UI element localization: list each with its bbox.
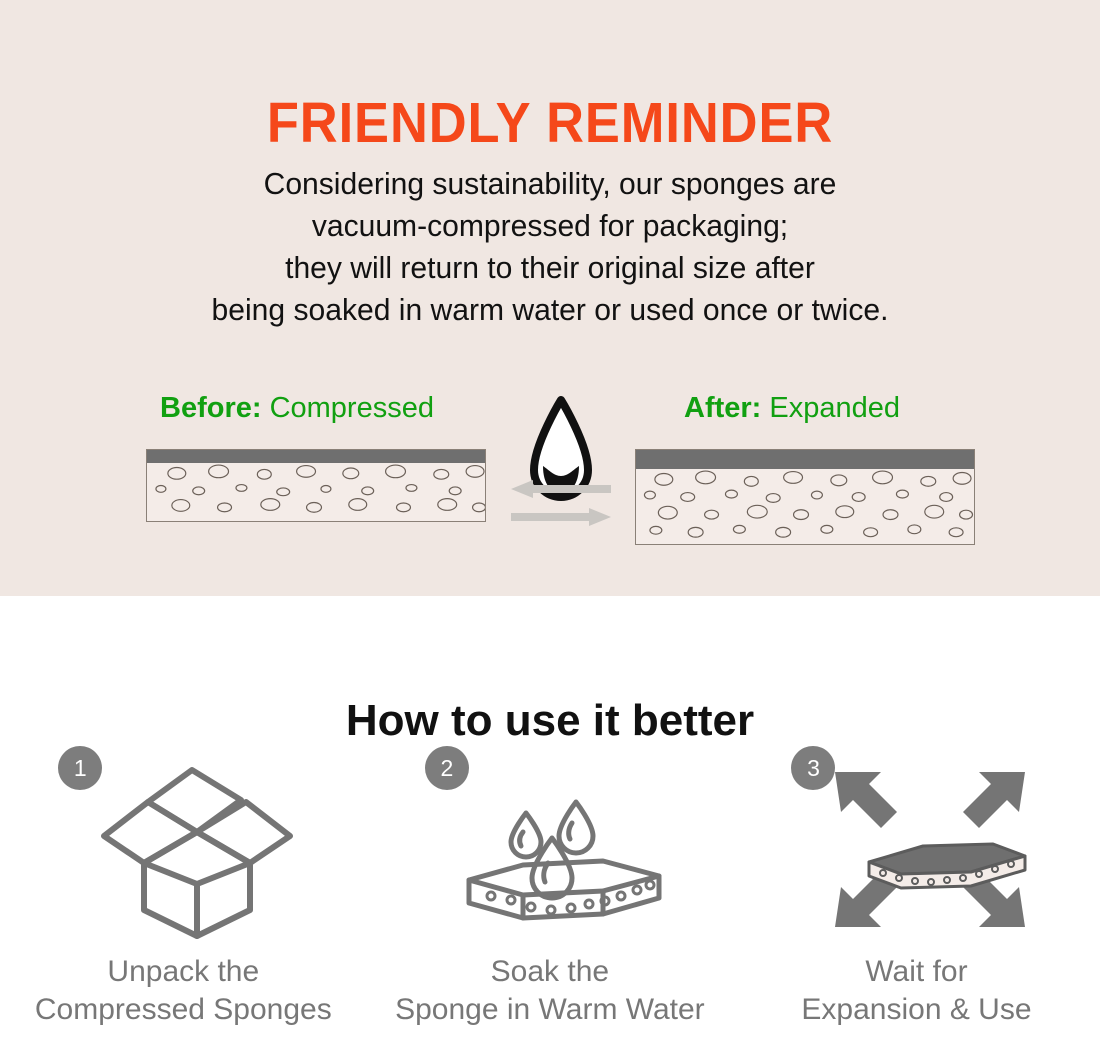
step-caption: Soak the Sponge in Warm Water xyxy=(395,953,705,1029)
reminder-body-line: Considering sustainability, our sponges … xyxy=(17,163,1084,205)
water-drops-on-sponge-icon xyxy=(453,758,675,941)
expand-arrows-sponge-icon xyxy=(819,758,1041,941)
reminder-body-line: they will return to their original size … xyxy=(17,247,1084,289)
reminder-body-text: Considering sustainability, our sponges … xyxy=(17,163,1084,331)
before-after-comparison: Before: Compressed After: Expanded xyxy=(0,392,1100,562)
before-label-value: Compressed xyxy=(270,392,434,424)
step-caption-line: Wait for xyxy=(801,953,1031,991)
step-artwork: 1 xyxy=(58,746,308,941)
sponge-pores-icon xyxy=(636,450,974,544)
step-artwork: 2 xyxy=(425,746,675,941)
step-caption: Wait for Expansion & Use xyxy=(801,953,1031,1029)
howto-title: How to use it better xyxy=(0,696,1100,746)
before-label: Before: Compressed xyxy=(160,392,434,425)
sponge-pores-icon xyxy=(147,450,485,521)
step-item: 2 xyxy=(367,746,734,1029)
step-artwork: 3 xyxy=(791,746,1041,941)
friendly-reminder-section: FRIENDLY REMINDER Considering sustainabi… xyxy=(0,0,1100,596)
after-label-value: Expanded xyxy=(769,392,900,424)
after-label-key: After: xyxy=(684,392,761,424)
step-caption-line: Compressed Sponges xyxy=(35,991,332,1029)
step-caption-line: Unpack the xyxy=(35,953,332,991)
exchange-arrows-icon xyxy=(511,480,611,526)
step-caption-line: Soak the xyxy=(395,953,705,991)
open-box-icon xyxy=(86,758,308,941)
steps-list: 1 xyxy=(0,746,1100,1029)
page-title: FRIENDLY REMINDER xyxy=(44,90,1056,156)
compressed-sponge-graphic xyxy=(146,449,486,522)
after-label: After: Expanded xyxy=(684,392,900,425)
infographic-page: FRIENDLY REMINDER Considering sustainabi… xyxy=(0,0,1100,1039)
step-caption-line: Expansion & Use xyxy=(801,991,1031,1029)
how-to-use-section: How to use it better 1 xyxy=(0,596,1100,1039)
step-caption: Unpack the Compressed Sponges xyxy=(35,953,332,1029)
step-caption-line: Sponge in Warm Water xyxy=(395,991,705,1029)
step-item: 1 xyxy=(0,746,367,1029)
expanded-sponge-graphic xyxy=(635,449,975,545)
before-label-key: Before: xyxy=(160,392,262,424)
reminder-body-line: vacuum-compressed for packaging; xyxy=(17,205,1084,247)
step-item: 3 xyxy=(733,746,1100,1029)
reminder-body-line: being soaked in warm water or used once … xyxy=(17,289,1084,331)
